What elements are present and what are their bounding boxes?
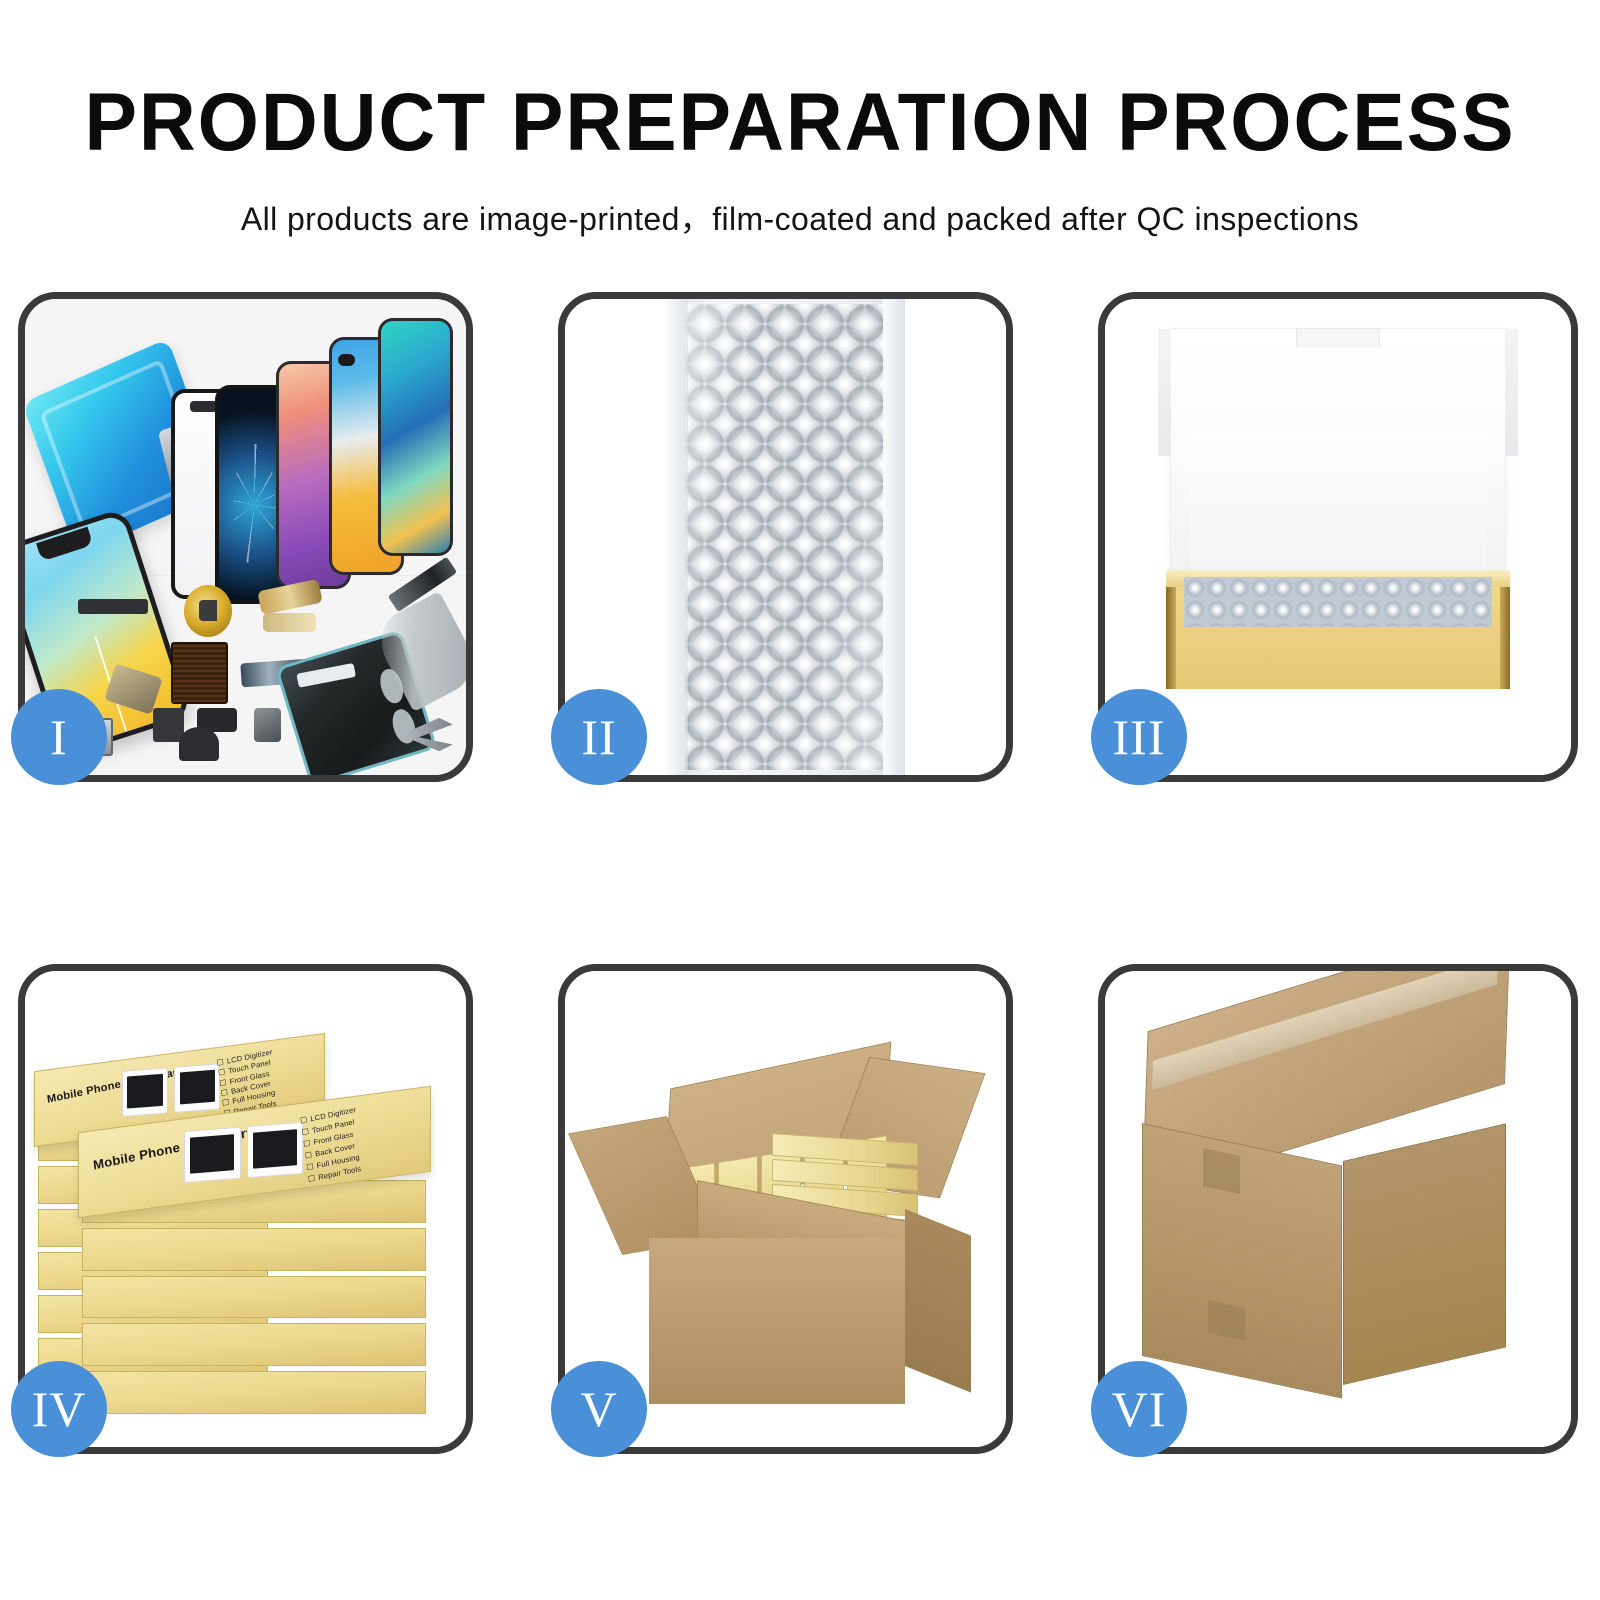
wireless-charging-coil-part xyxy=(184,585,233,637)
box-checklist-front: LCD Digitizer Touch Panel Front Glass Ba… xyxy=(299,1094,420,1184)
step-badge-2: II xyxy=(551,689,647,785)
camera-lens-2 xyxy=(389,707,419,747)
step-panel-6[interactable]: VI xyxy=(1098,964,1578,1454)
carton-flap-seam-top xyxy=(1203,1148,1240,1194)
flex-cable-part-2 xyxy=(263,613,316,632)
infographic-page: PRODUCT PREPARATION PROCESS All products… xyxy=(0,0,1600,1600)
box-thumbnail xyxy=(122,1068,168,1118)
step-badge-3: III xyxy=(1091,689,1187,785)
box-thumbnail xyxy=(174,1063,220,1113)
retail-box-front-2 xyxy=(82,1228,426,1271)
step-3-image xyxy=(1105,299,1571,775)
bubble-wrapped-content xyxy=(1184,577,1492,627)
step-badge-1: I xyxy=(11,689,107,785)
retail-box-front-5 xyxy=(82,1371,426,1414)
step-panel-4[interactable]: Mobile Phone Spare Parts LCD Digitizer T… xyxy=(18,964,473,1454)
step-6-image xyxy=(1105,971,1571,1447)
retail-box-front-3 xyxy=(82,1276,426,1319)
battery-tape xyxy=(296,663,356,688)
steps-grid: I II xyxy=(18,292,1582,1454)
vibration-motor-part xyxy=(179,727,219,760)
carton-side-face xyxy=(905,1209,971,1393)
shatter-pattern xyxy=(234,444,275,566)
step-panel-5[interactable]: V xyxy=(558,964,1013,1454)
bubble-texture xyxy=(685,304,885,769)
box-thumbnail xyxy=(247,1122,304,1178)
ic-chip-part xyxy=(171,642,228,704)
page-title: PRODUCT PREPARATION PROCESS xyxy=(32,82,1568,164)
camera-module-part xyxy=(254,708,280,741)
box-thumbnail xyxy=(184,1127,241,1183)
mailer-lid-tab xyxy=(1296,328,1380,347)
page-subtitle: All products are image-printed，film-coat… xyxy=(0,194,1600,240)
header: PRODUCT PREPARATION PROCESS All products… xyxy=(0,0,1600,240)
retail-box-front-4 xyxy=(82,1323,426,1366)
carton-side-face xyxy=(1343,1124,1506,1385)
mailer-inner-liner xyxy=(1189,432,1487,584)
step-panel-2[interactable]: II xyxy=(558,292,1013,782)
step-panel-3[interactable]: III xyxy=(1098,292,1578,782)
box-product-thumbnails-back xyxy=(122,1064,220,1118)
step-badge-6: VI xyxy=(1091,1361,1187,1457)
pouch-seam-left xyxy=(666,299,688,775)
phone-notch xyxy=(36,527,92,561)
punch-hole-camera xyxy=(338,354,355,366)
step-badge-5: V xyxy=(551,1361,647,1457)
pouch-seam-right xyxy=(883,299,905,775)
metal-bracket-part xyxy=(153,708,184,741)
bubble-pouch xyxy=(666,299,904,775)
phone-teal-display xyxy=(378,318,453,556)
carton-front-face xyxy=(649,1238,905,1405)
box-product-thumbnails-front xyxy=(184,1122,303,1183)
carton-front-face xyxy=(1142,1123,1342,1399)
step-panel-1[interactable]: I xyxy=(18,292,473,782)
step-badge-4: IV xyxy=(11,1361,107,1457)
connector-strip-part xyxy=(78,599,149,614)
